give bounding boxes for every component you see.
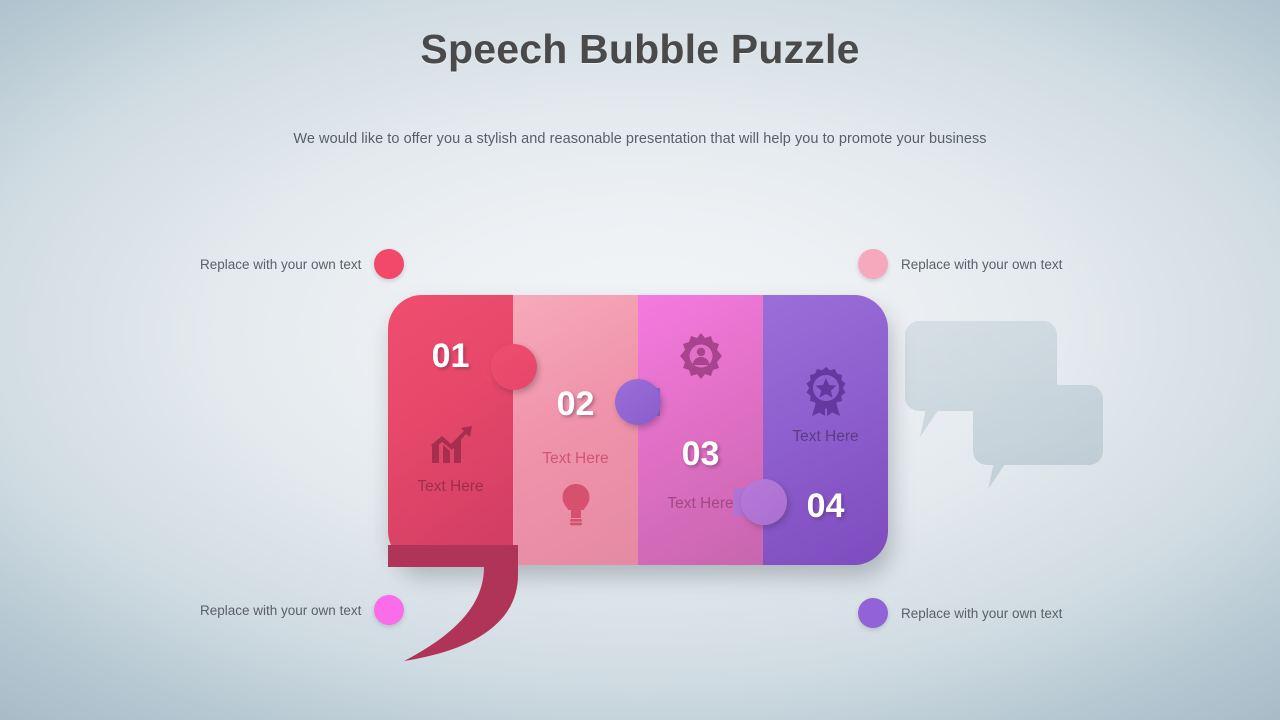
puzzle-segment-01[interactable]: 01 Text Here [388,295,513,565]
decorative-speech-bubbles [895,305,1120,495]
callout-bottom-left[interactable]: Replace with your own text [200,595,404,625]
segment-03-label: Text Here [638,495,763,513]
callout-top-right-label: Replace with your own text [901,257,1062,272]
callout-top-left-label: Replace with your own text [200,257,361,272]
award-ribbon-star-icon [763,367,888,422]
lightbulb-icon [513,483,638,532]
segment-03-number: 03 [638,435,763,474]
callout-top-left-dot [374,249,404,279]
callout-bottom-right-label: Replace with your own text [901,606,1062,621]
segment-04-label: Text Here [763,428,888,446]
segment-02-label: Text Here [513,450,638,468]
puzzle-segment-03[interactable]: 03 Text Here [638,295,763,565]
segment-02-number: 02 [513,385,638,424]
bar-chart-growth-icon [388,425,513,470]
decorative-bubble-2 [973,385,1103,465]
speech-bubble-puzzle: 01 Text Here 02 [380,295,900,645]
puzzle-segment-02[interactable]: 02 Text Here [513,295,638,565]
callout-top-right-dot [858,249,888,279]
decorative-bubble-1-tail [920,409,951,437]
segment-01-label: Text Here [388,478,513,496]
page-subtitle: We would like to offer you a stylish and… [0,131,1280,147]
segment-01-number: 01 [388,337,513,376]
callout-top-left[interactable]: Replace with your own text [200,249,404,279]
speech-bubble-tail [388,545,558,665]
callout-bottom-left-label: Replace with your own text [200,603,361,618]
decorative-bubble-2-tail [988,463,1017,489]
callout-top-right[interactable]: Replace with your own text [858,249,1062,279]
slide-canvas: Speech Bubble Puzzle We would like to of… [0,0,1280,720]
page-title: Speech Bubble Puzzle [0,26,1280,73]
puzzle-segment-04[interactable]: Text Here 04 [763,295,888,565]
puzzle-segments-container: 01 Text Here 02 [388,295,888,565]
gear-user-icon [638,333,763,384]
segment-04-number: 04 [763,487,888,526]
